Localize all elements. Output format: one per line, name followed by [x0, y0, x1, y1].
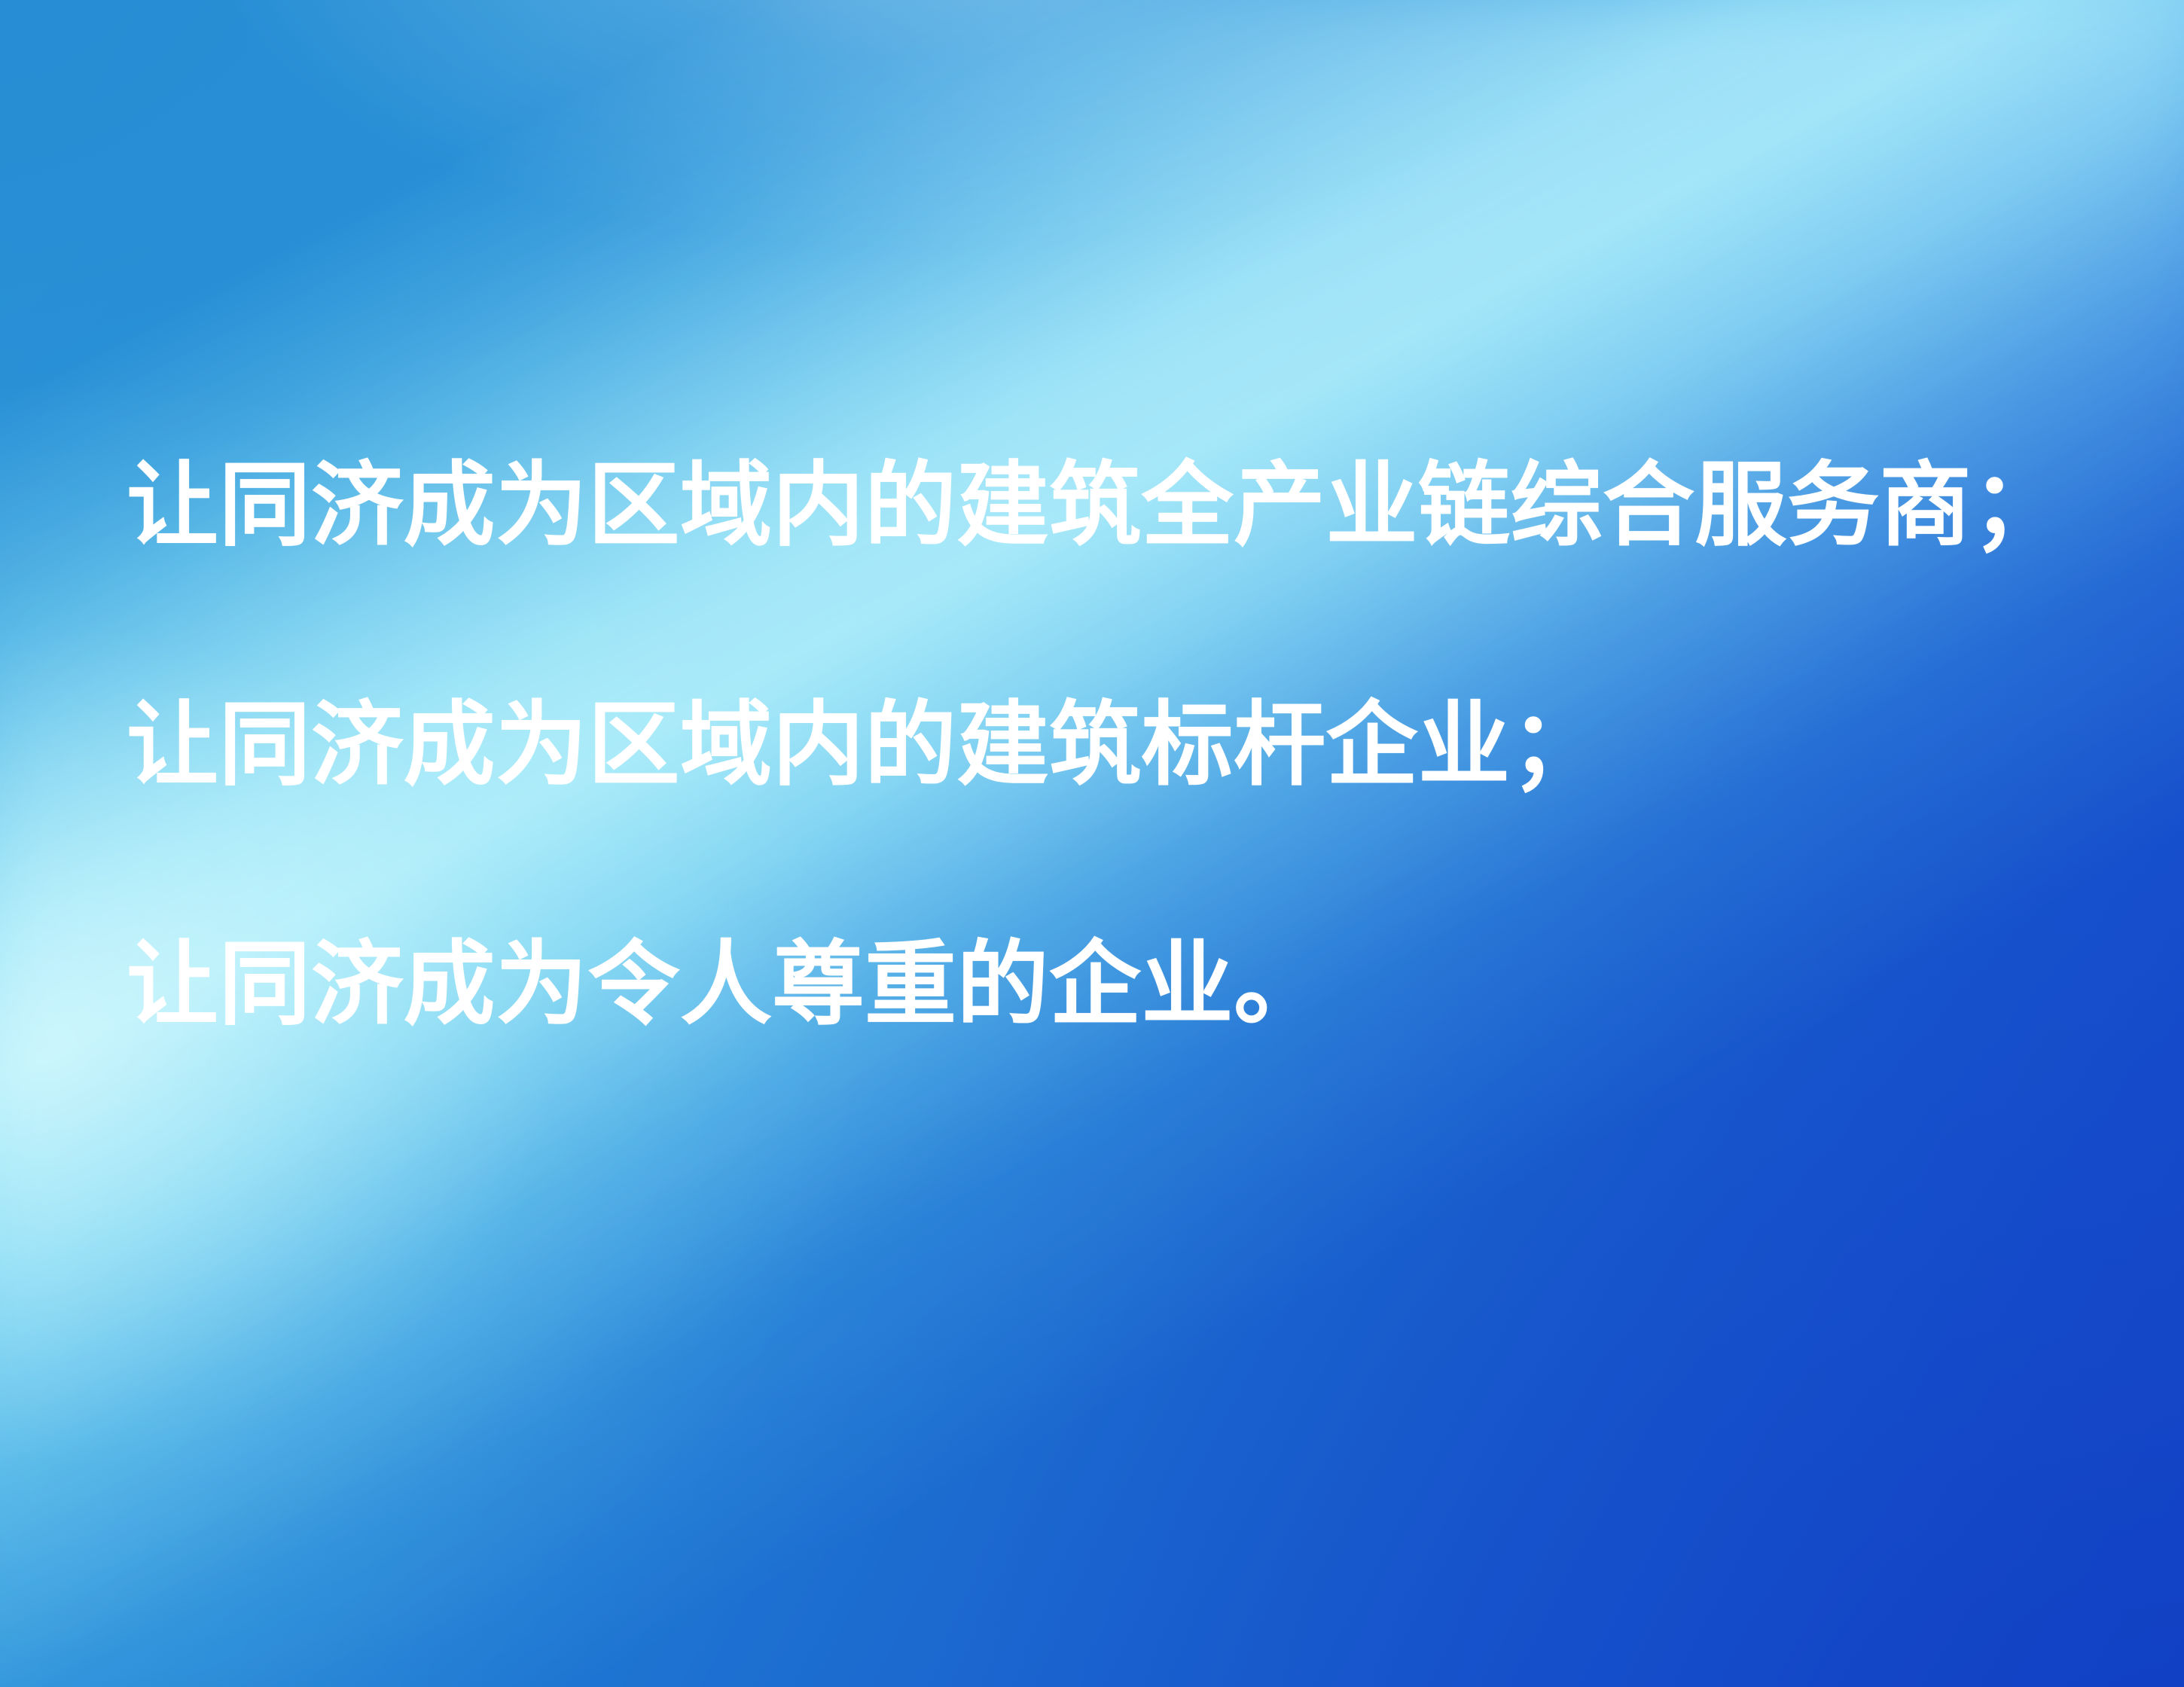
tagline-line-2: 让同济成为区域内的建筑标杆企业； [127, 700, 2085, 792]
tagline-block: 让同济成为区域内的建筑全产业链综合服务商； 让同济成为区域内的建筑标杆企业； 让… [127, 461, 2085, 1032]
tagline-line-3: 让同济成为令人尊重的企业。 [127, 940, 2085, 1032]
tagline-line-1: 让同济成为区域内的建筑全产业链综合服务商； [127, 461, 2085, 553]
presentation-slide: 让同济成为区域内的建筑全产业链综合服务商； 让同济成为区域内的建筑标杆企业； 让… [0, 0, 2184, 1687]
